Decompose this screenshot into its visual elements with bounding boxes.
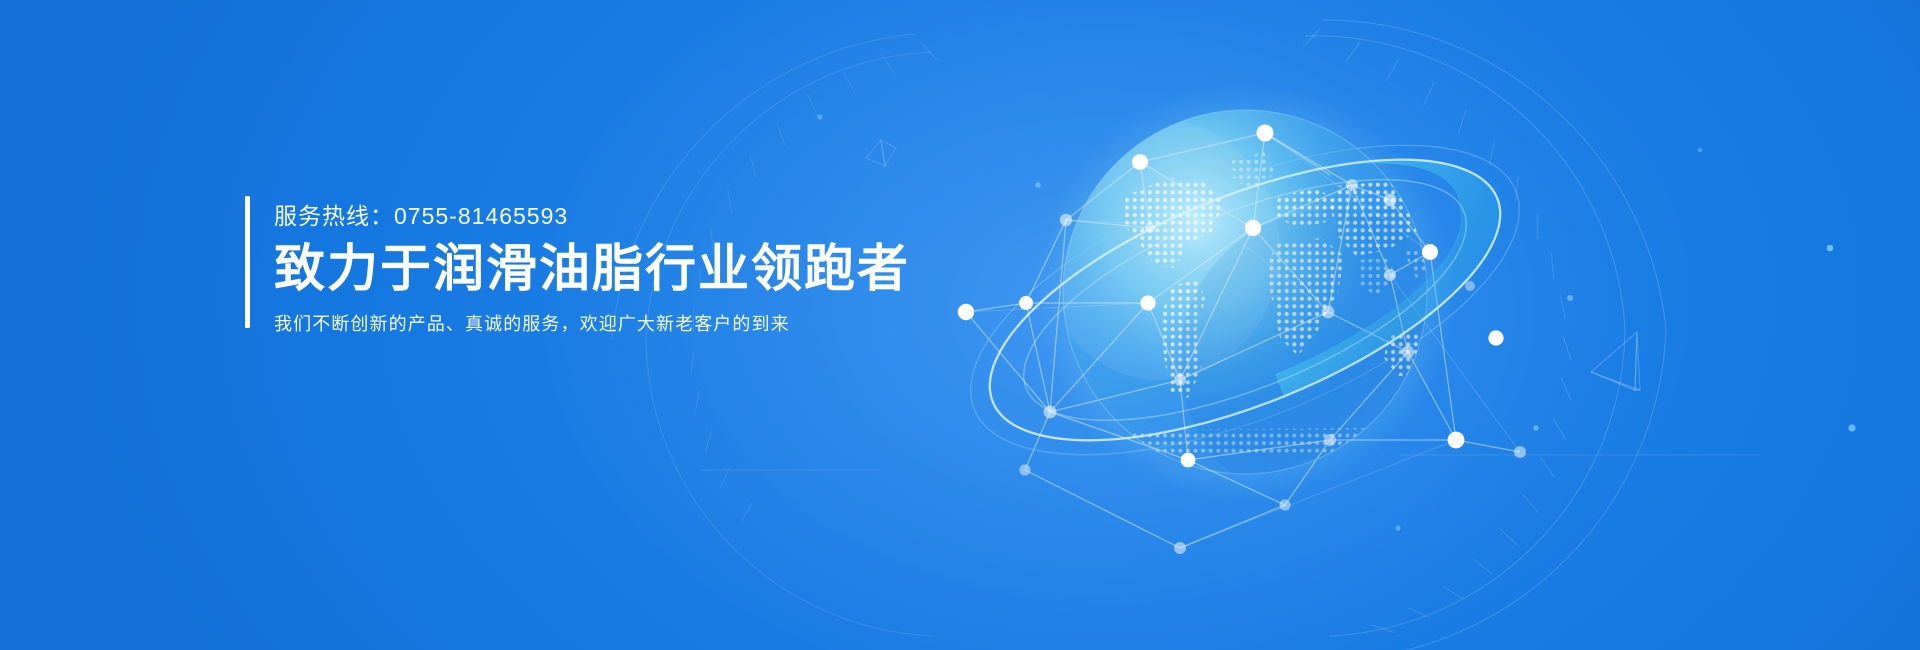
- service-hotline: 服务热线：0755-81465593: [274, 200, 910, 232]
- page-title: 致力于润滑油脂行业领跑者: [274, 238, 910, 300]
- hero-text-lines: 服务热线：0755-81465593 致力于润滑油脂行业领跑者 我们不断创新的产…: [274, 196, 910, 338]
- hero-banner: 服务热线：0755-81465593 致力于润滑油脂行业领跑者 我们不断创新的产…: [0, 0, 1920, 650]
- accent-bar: [245, 196, 250, 328]
- hero-text-block: 服务热线：0755-81465593 致力于润滑油脂行业领跑者 我们不断创新的产…: [245, 196, 910, 338]
- page-subtitle: 我们不断创新的产品、真诚的服务，欢迎广大新老客户的到来: [274, 310, 910, 338]
